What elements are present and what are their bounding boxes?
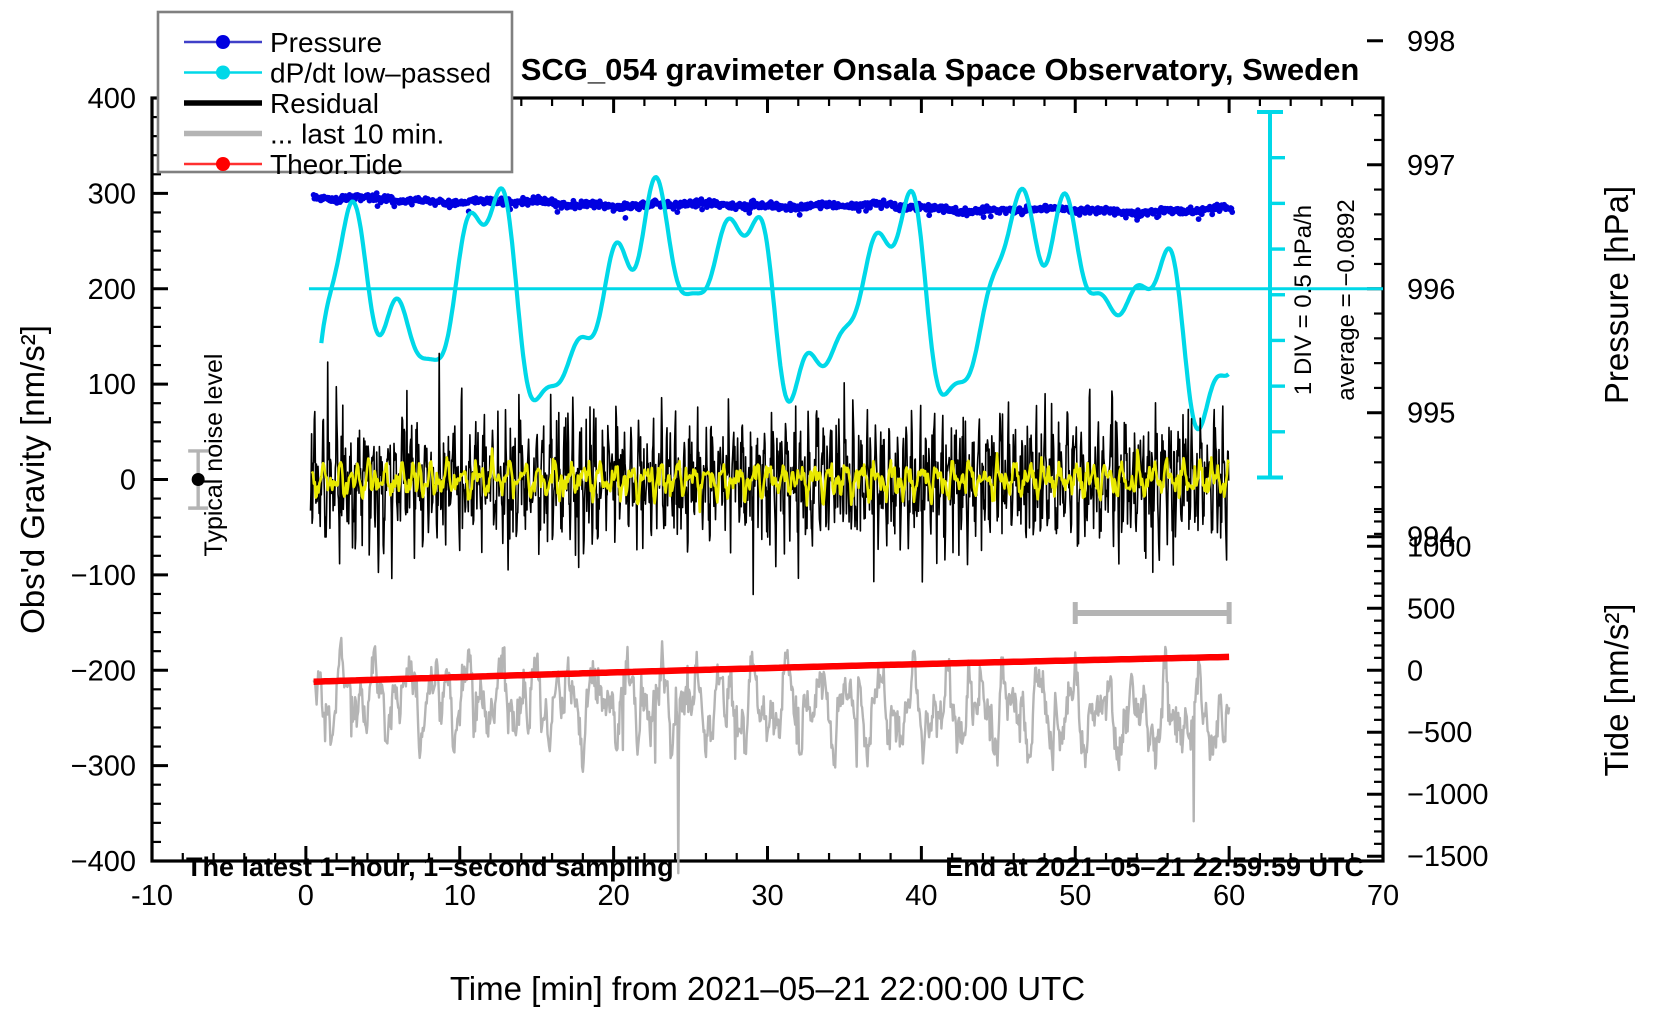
legend-marker-0 — [216, 35, 230, 49]
chart-figure: -10010203040506070−400−300−200−100010020… — [0, 0, 1660, 1020]
plot-canvas: -10010203040506070−400−300−200−100010020… — [0, 0, 1660, 1020]
legend-marker-1 — [216, 66, 230, 80]
legend-label-0: Pressure — [270, 27, 382, 58]
y-tick-label-left: 200 — [88, 274, 136, 306]
y-tick-label-pressure: 996 — [1407, 274, 1455, 306]
y-tick-label-left: −400 — [71, 846, 136, 878]
x-tick-label: 0 — [298, 880, 314, 912]
bottom-left-annotation: The latest 1–hour, 1–second sampling — [186, 852, 674, 882]
y-tick-label-left: −300 — [71, 751, 136, 783]
y-tick-label-pressure: 998 — [1407, 26, 1455, 58]
legend-marker-4 — [216, 157, 230, 171]
chart-title: SCG_054 gravimeter Onsala Space Observat… — [521, 52, 1360, 87]
y-tick-label-pressure: 995 — [1407, 398, 1455, 430]
y-tick-label-tide: −500 — [1407, 717, 1472, 749]
y-tick-label-left: −200 — [71, 655, 136, 687]
x-tick-label: 50 — [1059, 880, 1091, 912]
theoretical-tide-line — [314, 657, 1230, 682]
x-tick-label: 20 — [597, 880, 629, 912]
noise-level-label: Typical noise level — [200, 354, 228, 557]
y-tick-label-left: −100 — [71, 560, 136, 592]
y-axis-label-tide: Tide [nm/s²] — [1598, 604, 1635, 777]
pressure-scatter — [311, 190, 1235, 223]
y-tick-label-tide: 500 — [1407, 593, 1455, 625]
y-tick-label-tide: 0 — [1407, 655, 1423, 687]
y-tick-label-left: 300 — [88, 178, 136, 210]
legend-label-1: dP/dt low–passed — [270, 58, 491, 89]
y-tick-label-tide: −1000 — [1407, 779, 1488, 811]
y-axis-label-left: Obs'd Gravity [nm/s²] — [14, 325, 51, 634]
y-tick-label-tide: −1500 — [1407, 841, 1488, 873]
last10min-line — [314, 638, 1230, 873]
legend-label-3: ... last 10 min. — [270, 119, 444, 150]
legend-label-2: Residual — [270, 88, 379, 119]
y-tick-label-tide: 1000 — [1407, 531, 1472, 563]
y-tick-label-left: 400 — [88, 83, 136, 115]
dpdt-average-label: average = −0.0892 — [1333, 199, 1360, 401]
y-tick-label-left: 100 — [88, 369, 136, 401]
y-axis-label-pressure: Pressure [hPa] — [1598, 186, 1635, 404]
x-tick-label: 60 — [1213, 880, 1245, 912]
x-tick-label: 70 — [1367, 880, 1399, 912]
x-tick-label: -10 — [131, 880, 173, 912]
dpdt-lowpassed-line — [321, 177, 1228, 429]
x-tick-label: 30 — [751, 880, 783, 912]
x-tick-label: 40 — [905, 880, 937, 912]
y-tick-label-pressure: 997 — [1407, 150, 1455, 182]
dpdt-div-label: 1 DIV = 0.5 hPa/h — [1290, 205, 1317, 395]
x-axis-label: Time [min] from 2021–05–21 22:00:00 UTC — [450, 970, 1085, 1007]
y-tick-label-left: 0 — [120, 465, 136, 497]
legend-label-4: Theor.Tide — [270, 149, 403, 180]
bottom-right-annotation: End at 2021–05–21 22:59:59 UTC — [945, 852, 1364, 882]
x-tick-label: 10 — [444, 880, 476, 912]
